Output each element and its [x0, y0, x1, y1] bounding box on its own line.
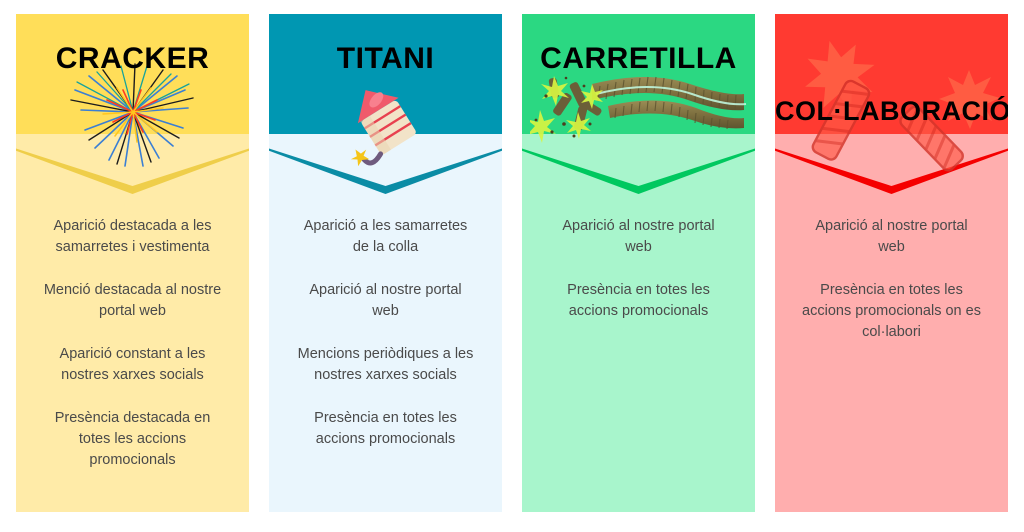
benefit-item: Presència en totes les accions promocion… [295, 408, 476, 450]
header-background [16, 14, 249, 150]
tier-benefits-carretilla: Aparició al nostre portal web Presència … [522, 150, 755, 512]
tier-header-collaboracio: COL·LABORACIÓ [775, 14, 1008, 150]
tier-card-collaboracio: COL·LABORACIÓ Aparició al nostre portal … [775, 14, 1008, 512]
tier-title: COL·LABORACIÓ [775, 98, 1008, 125]
header-background [522, 14, 755, 150]
tier-benefits-collaboracio: Aparició al nostre portal web Presència … [775, 150, 1008, 512]
benefit-item: Aparició constant a les nostres xarxes s… [42, 344, 223, 386]
benefit-item: Aparició al nostre portal web [548, 216, 729, 258]
benefit-item: Menció destacada al nostre portal web [42, 280, 223, 322]
header-background [269, 14, 502, 150]
tier-title: CARRETILLA [522, 44, 755, 74]
benefit-item: Mencions periòdiques a les nostres xarxe… [295, 344, 476, 386]
benefit-item: Aparició al nostre portal web [295, 280, 476, 322]
header-background [775, 14, 1008, 150]
benefit-item: Presència destacada en totes les accions… [42, 408, 223, 471]
tier-benefits-titani: Aparició a les samarretes de la colla Ap… [269, 150, 502, 512]
benefit-item: Aparició destacada a les samarretes i ve… [42, 216, 223, 258]
benefit-item: Aparició al nostre portal web [801, 216, 982, 258]
tier-benefits-cracker: Aparició destacada a les samarretes i ve… [16, 150, 249, 512]
benefit-item: Presència en totes les accions promocion… [801, 280, 982, 343]
tier-card-titani: TITANI Aparició a les samarretes de la c… [269, 14, 502, 512]
tier-header-carretilla: CARRETILLA [522, 14, 755, 150]
sponsorship-tiers-board: CRACKER Aparició destacada a les samarre… [0, 0, 1024, 532]
benefit-item: Presència en totes les accions promocion… [548, 280, 729, 322]
tier-header-titani: TITANI [269, 14, 502, 150]
tier-title: CRACKER [16, 44, 249, 74]
benefit-item: Aparició a les samarretes de la colla [295, 216, 476, 258]
tier-card-carretilla: CARRETILLA Aparició al nostre portal web… [522, 14, 755, 512]
tier-title: TITANI [269, 44, 502, 74]
tier-card-cracker: CRACKER Aparició destacada a les samarre… [16, 14, 249, 512]
tier-header-cracker: CRACKER [16, 14, 249, 150]
